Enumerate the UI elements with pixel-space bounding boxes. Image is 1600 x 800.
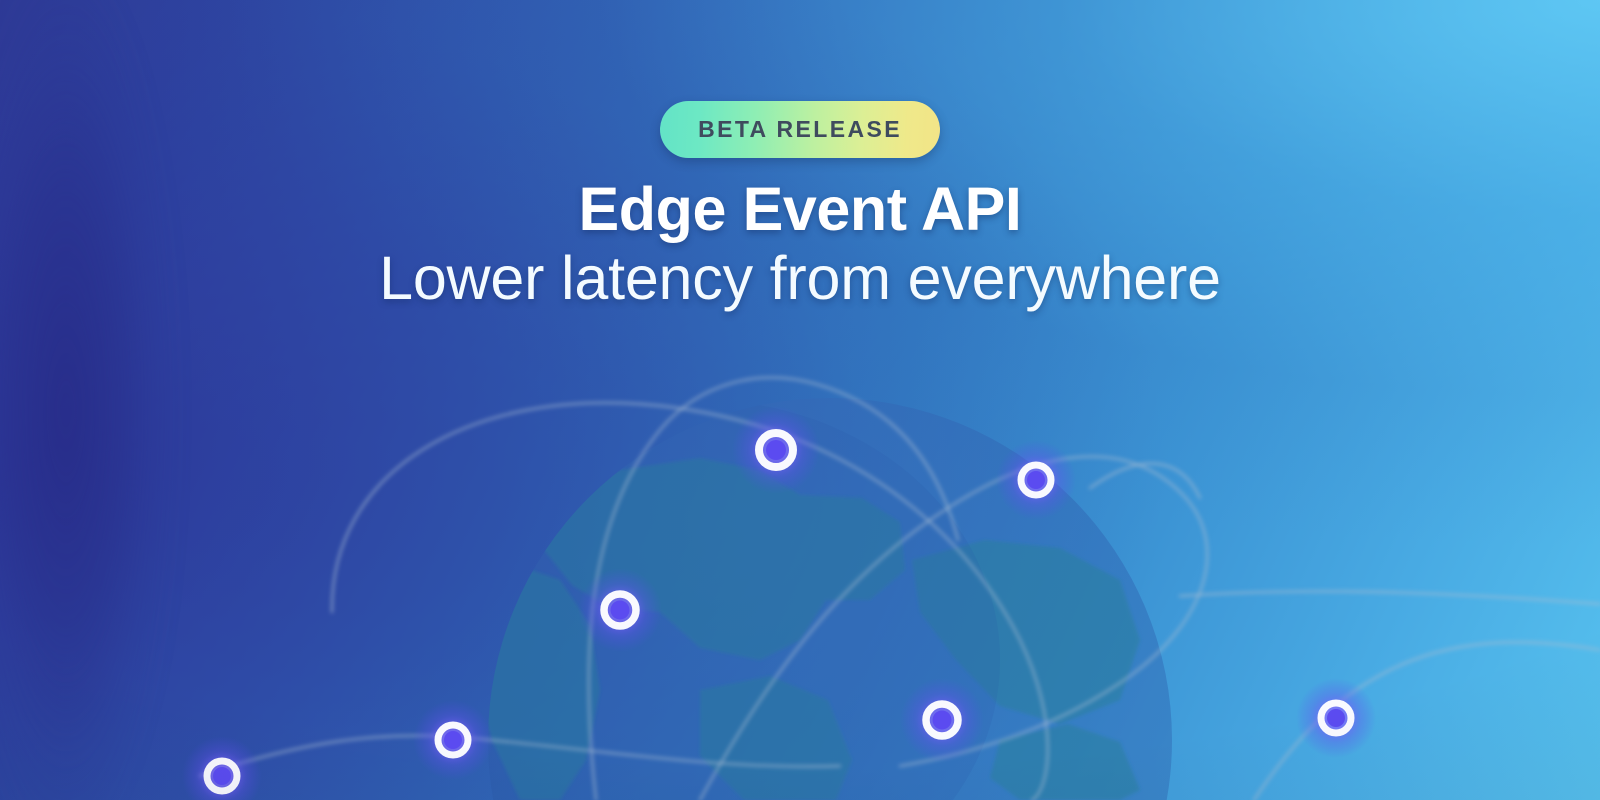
page-title: Edge Event API bbox=[0, 178, 1600, 240]
hero-banner: BETA RELEASE Edge Event API Lower latenc… bbox=[0, 0, 1600, 800]
beta-release-badge: BETA RELEASE bbox=[660, 101, 940, 158]
page-subtitle: Lower latency from everywhere bbox=[0, 246, 1600, 312]
hero-text-block: BETA RELEASE Edge Event API Lower latenc… bbox=[0, 0, 1600, 312]
